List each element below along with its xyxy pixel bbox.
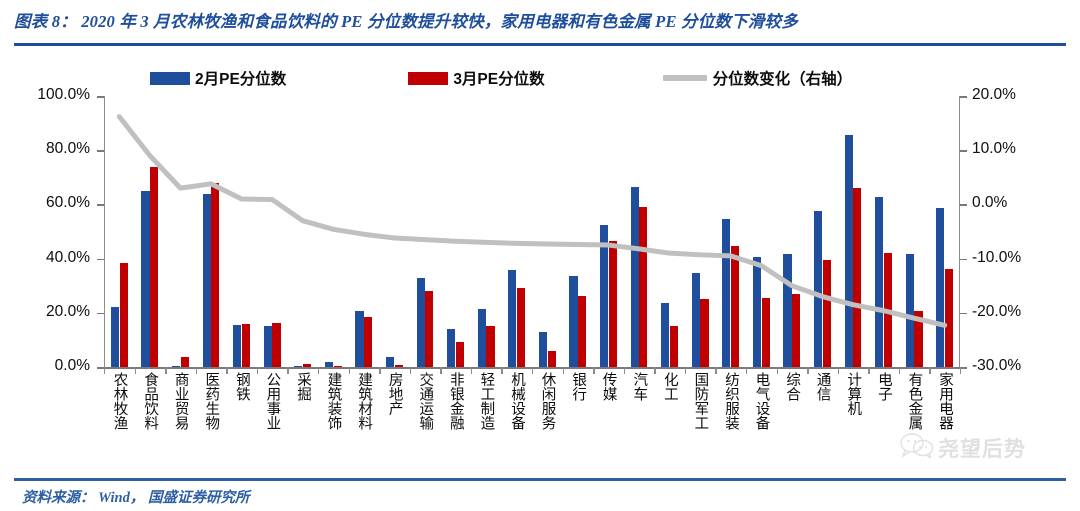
bar-feb [233,325,241,367]
x-axis-category-label: 采掘 [295,372,310,401]
chart-legend: 2月PE分位数 3月PE分位数 分位数变化（右轴） [150,66,980,90]
bar-mar [181,357,189,367]
legend-item-feb[interactable]: 2月PE分位数 [150,67,286,89]
left-axis-tick-label: 40.0% [46,249,90,267]
x-axis-category-label: 有色金属 [907,372,922,430]
x-axis-category-label: 国防军工 [693,372,708,430]
bar-mar [334,366,342,367]
left-axis-tick-label: 80.0% [46,140,90,158]
right-axis-tick-label: 10.0% [972,140,1016,158]
right-axis-tick [960,259,967,261]
bar-mar [670,326,678,367]
right-axis-tick-label: 0.0% [972,194,1007,212]
left-axis-tick [97,96,104,98]
x-axis-category-label: 化工 [662,372,677,401]
bar-mar [150,167,158,367]
bar-feb [386,357,394,367]
x-axis-category-label: 汽车 [632,372,647,401]
legend-swatch-feb [150,72,190,85]
x-axis-category-label: 房地产 [387,372,402,416]
legend-label-mar: 3月PE分位数 [453,67,544,89]
bar-feb [294,366,302,367]
bar-series-layer [104,96,960,367]
bar-mar [395,365,403,367]
bar-feb [478,309,486,367]
left-axis-tick-label: 20.0% [46,303,90,321]
page-title: 图表 8： 2020 年 3 月农林牧渔和食品饮料的 PE 分位数提升较快，家用… [14,12,798,31]
figure-container: 图表 8： 2020 年 3 月农林牧渔和食品饮料的 PE 分位数提升较快，家用… [0,0,1080,511]
x-axis-category-label: 轻工制造 [479,372,494,430]
x-axis-category-label: 食品饮料 [143,372,158,430]
x-axis-category-label: 电子 [876,372,891,401]
x-axis-category-label: 传媒 [601,372,616,401]
bar-mar [853,188,861,367]
bar-feb [783,254,791,367]
right-axis-tick-label: -30.0% [972,357,1021,375]
bar-mar [700,299,708,367]
left-axis-tick [97,150,104,152]
legend-item-mar[interactable]: 3月PE分位数 [408,67,544,89]
bar-mar [914,311,922,367]
bar-mar [425,291,433,367]
bar-feb [447,329,455,367]
legend-item-change[interactable]: 分位数变化（右轴） [663,67,853,89]
x-axis-category-label: 农林牧渔 [112,372,127,430]
x-axis-category-label: 钢铁 [234,372,249,401]
x-axis-category-label: 公用事业 [265,372,280,430]
legend-swatch-mar [408,72,448,85]
right-axis-tick [960,96,967,98]
bar-mar [792,294,800,367]
bar-feb [936,208,944,367]
bar-feb [417,278,425,367]
x-axis-category-label: 机械设备 [509,372,524,430]
bar-mar [211,183,219,367]
bar-feb [539,332,547,367]
left-axis-tick [97,259,104,261]
bar-feb [722,219,730,367]
x-axis-category-labels: 农林牧渔食品饮料商业贸易医药生物钢铁公用事业采掘建筑装饰建筑材料房地产交通运输非… [104,372,960,477]
x-axis-category-label: 建筑装饰 [326,372,341,430]
x-axis-category-label: 电气设备 [754,372,769,430]
bar-feb [508,270,516,367]
left-axis-tick-label: 0.0% [55,357,90,375]
bar-feb [141,191,149,367]
bar-feb [875,197,883,367]
bar-feb [814,211,822,367]
bar-mar [823,260,831,367]
bar-feb [111,307,119,367]
x-axis-category-label: 家用电器 [937,372,952,430]
bar-feb [906,254,914,367]
left-axis-tick-label: 100.0% [37,86,90,104]
bar-mar [303,364,311,367]
x-axis-tick [960,367,961,374]
bar-feb [172,366,180,367]
bar-feb [661,303,669,367]
bar-mar [272,323,280,367]
right-axis-tick-label: -20.0% [972,303,1021,321]
bar-mar [548,351,556,367]
bar-mar [517,288,525,367]
legend-label-feb: 2月PE分位数 [195,67,286,89]
bar-feb [325,362,333,367]
x-axis-category-label: 纺织服装 [723,372,738,430]
bar-feb [753,257,761,367]
footer-divider [14,478,1066,481]
x-axis-category-label: 交通运输 [418,372,433,430]
right-axis-tick [960,313,967,315]
x-axis-category-label: 商业贸易 [173,372,188,430]
left-axis-tick [97,313,104,315]
bar-mar [120,263,128,367]
bar-mar [884,253,892,367]
source-note: 资料来源： Wind， 国盛证券研究所 [22,486,249,507]
bar-feb [845,135,853,367]
legend-label-change: 分位数变化（右轴） [713,67,853,89]
x-axis-category-label: 休闲服务 [540,372,555,430]
bar-mar [364,317,372,367]
x-axis-category-label: 医药生物 [204,372,219,430]
title-divider [14,43,1066,46]
figure-title-bar: 图表 8： 2020 年 3 月农林牧渔和食品饮料的 PE 分位数提升较快，家用… [14,8,1066,42]
right-axis-tick-label: -10.0% [972,249,1021,267]
left-axis-tick-label: 60.0% [46,194,90,212]
x-axis-category-label: 综合 [785,372,800,401]
bar-mar [609,241,617,367]
bar-mar [242,324,250,367]
bar-mar [762,298,770,367]
x-axis-category-label: 计算机 [846,372,861,416]
bar-feb [355,311,363,367]
bar-mar [731,246,739,367]
bar-mar [578,296,586,367]
bar-mar [945,269,953,367]
bar-feb [569,276,577,367]
bar-feb [631,187,639,367]
legend-line-change [663,75,707,81]
x-axis-category-label: 非银金融 [448,372,463,430]
bar-feb [600,225,608,367]
right-axis-tick [960,204,967,206]
bar-feb [203,194,211,367]
x-axis-category-label: 建筑材料 [357,372,372,430]
bar-mar [639,207,647,367]
left-axis-tick [97,367,104,369]
bar-mar [456,342,464,367]
bar-feb [264,326,272,367]
x-axis-category-label: 银行 [571,372,586,401]
left-axis-tick [97,204,104,206]
right-axis-tick-label: 20.0% [972,86,1016,104]
bar-feb [692,273,700,367]
x-axis-category-label: 通信 [815,372,830,401]
right-axis-tick [960,150,967,152]
bar-mar [486,326,494,367]
